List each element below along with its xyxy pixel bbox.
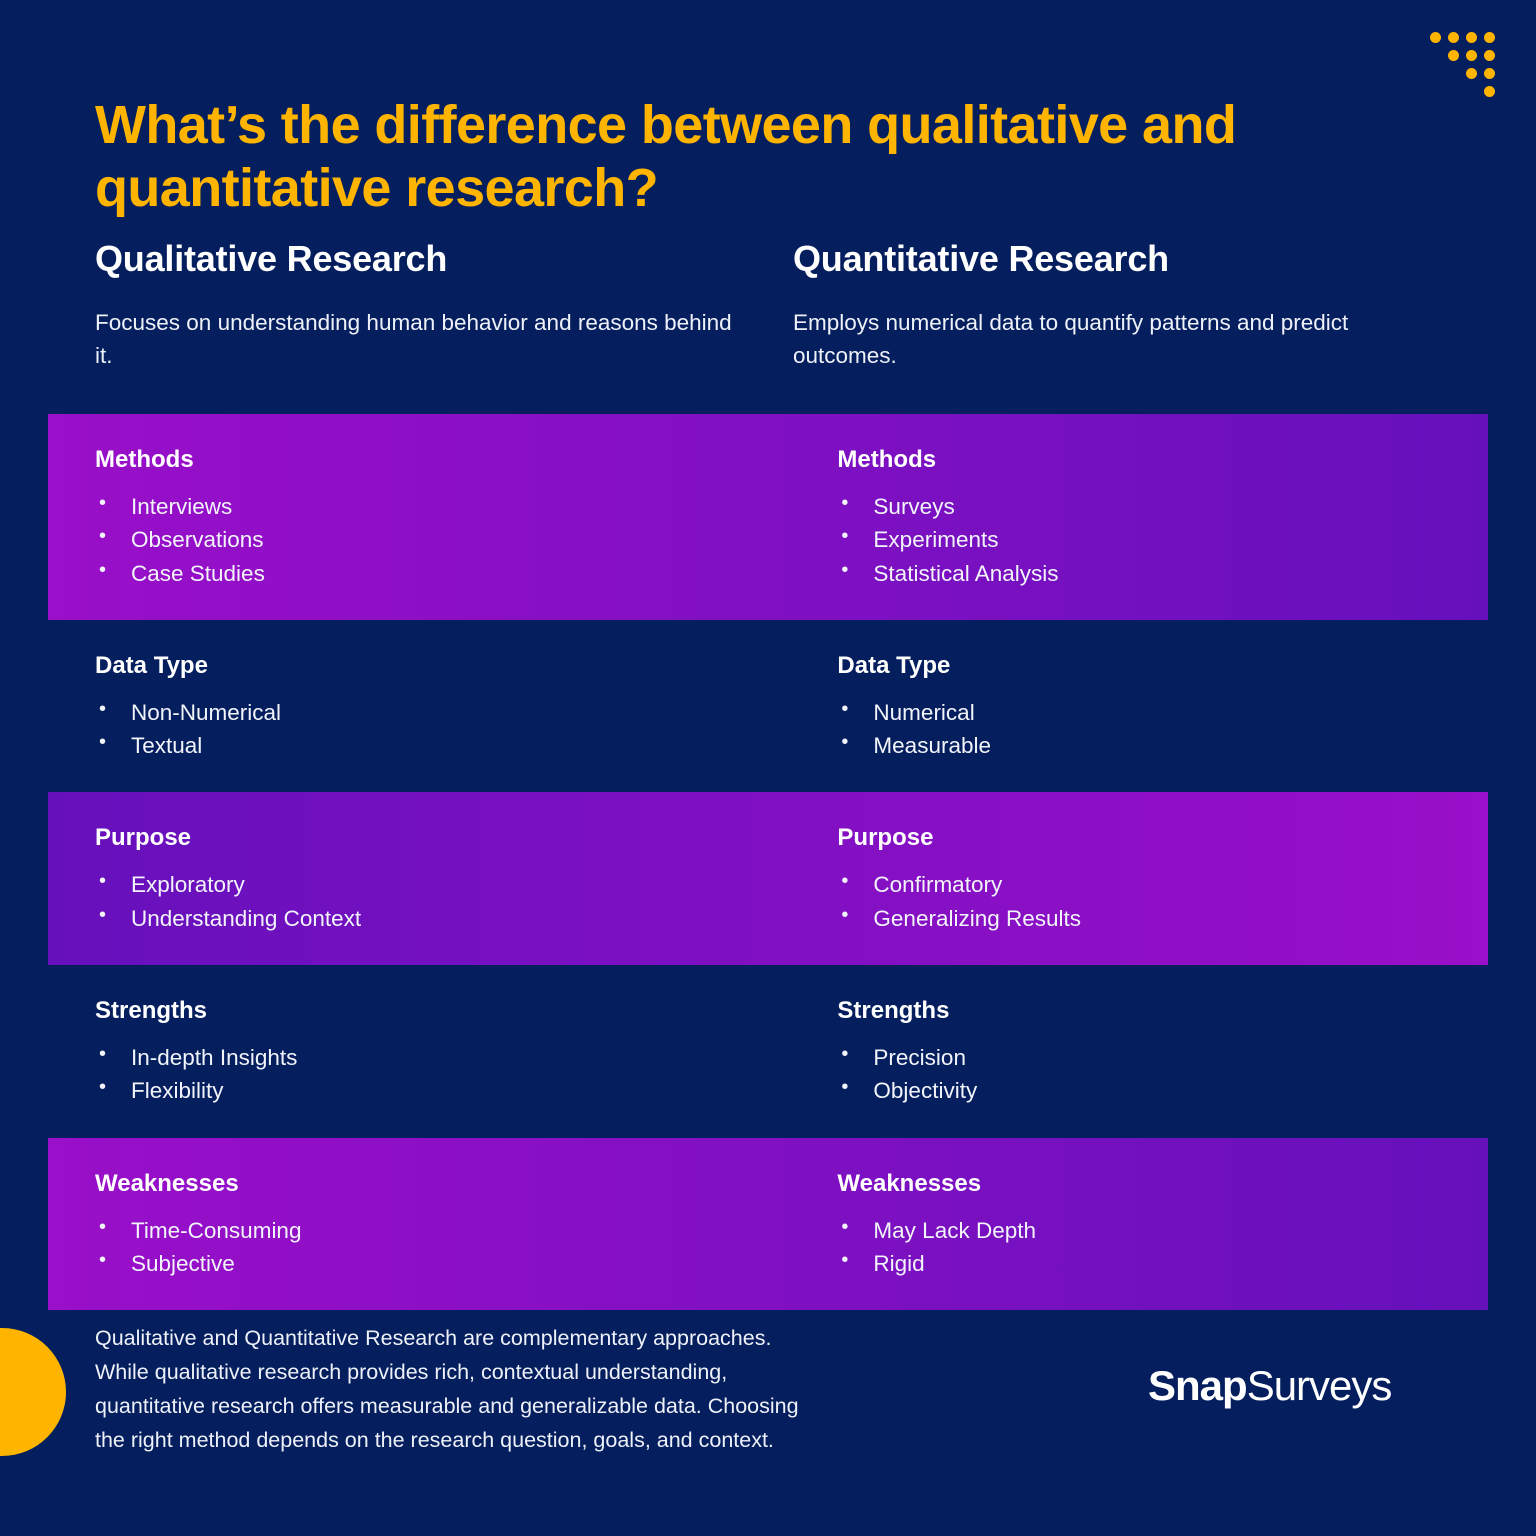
category-item-list: SurveysExperimentsStatistical Analysis (837, 490, 1488, 590)
comparison-cell-right: Data TypeNumericalMeasurable (790, 652, 1488, 763)
list-item: May Lack Depth (837, 1214, 1488, 1247)
dot (1466, 50, 1477, 61)
comparison-cell-left: WeaknessesTime-ConsumingSubjective (48, 1170, 790, 1281)
comparison-cell-left: Data TypeNon-NumericalTextual (48, 652, 790, 763)
category-label: Strengths (95, 997, 790, 1025)
category-item-list: In-depth InsightsFlexibility (95, 1041, 790, 1108)
dot (1466, 68, 1477, 79)
list-item: Statistical Analysis (837, 557, 1488, 590)
footer-line: While qualitative research provides rich… (95, 1356, 975, 1390)
list-item: Generalizing Results (837, 902, 1488, 935)
dot (1448, 32, 1459, 43)
category-item-list: Time-ConsumingSubjective (95, 1214, 790, 1281)
category-item-list: NumericalMeasurable (837, 696, 1488, 763)
comparison-row: PurposeExploratoryUnderstanding ContextP… (48, 792, 1488, 965)
category-label: Weaknesses (837, 1170, 1488, 1198)
comparison-row: StrengthsIn-depth InsightsFlexibilityStr… (48, 965, 1488, 1138)
list-item: Textual (95, 729, 790, 762)
triangular-dot-grid-icon (1430, 32, 1510, 116)
row-content: StrengthsIn-depth InsightsFlexibilityStr… (48, 965, 1488, 1138)
list-item: Measurable (837, 729, 1488, 762)
list-item: Surveys (837, 490, 1488, 523)
list-item: Rigid (837, 1247, 1488, 1280)
page-title: What’s the difference between qualitativ… (95, 94, 1275, 220)
category-label: Methods (95, 446, 790, 474)
comparison-row: Data TypeNon-NumericalTextualData TypeNu… (48, 620, 1488, 793)
comparison-cell-right: PurposeConfirmatoryGeneralizing Results (790, 824, 1488, 935)
dot (1466, 32, 1477, 43)
list-item: Understanding Context (95, 902, 790, 935)
comparison-cell-left: MethodsInterviewsObservationsCase Studie… (48, 446, 790, 590)
column-heading: Qualitative Research (95, 238, 755, 280)
brand-name-second: Surveys (1247, 1362, 1392, 1409)
list-item: Exploratory (95, 868, 790, 901)
footer-line: the right method depends on the research… (95, 1424, 975, 1458)
category-label: Data Type (837, 652, 1488, 680)
dot (1484, 50, 1495, 61)
footer-line: quantitative research offers measurable … (95, 1390, 975, 1424)
category-label: Purpose (837, 824, 1488, 852)
comparison-rows: MethodsInterviewsObservationsCase Studie… (0, 414, 1536, 1310)
list-item: Experiments (837, 523, 1488, 556)
list-item: In-depth Insights (95, 1041, 790, 1074)
category-item-list: InterviewsObservationsCase Studies (95, 490, 790, 590)
dot (1484, 68, 1495, 79)
list-item: Numerical (837, 696, 1488, 729)
list-item: Flexibility (95, 1074, 790, 1107)
list-item: Case Studies (95, 557, 790, 590)
list-item: Confirmatory (837, 868, 1488, 901)
footer-summary-text: Qualitative and Quantitative Research ar… (95, 1322, 975, 1458)
row-content: Data TypeNon-NumericalTextualData TypeNu… (48, 620, 1488, 793)
category-label: Data Type (95, 652, 790, 680)
comparison-row: WeaknessesTime-ConsumingSubjectiveWeakne… (48, 1138, 1488, 1311)
category-item-list: Non-NumericalTextual (95, 696, 790, 763)
category-label: Weaknesses (95, 1170, 790, 1198)
category-label: Purpose (95, 824, 790, 852)
category-item-list: ExploratoryUnderstanding Context (95, 868, 790, 935)
comparison-row: MethodsInterviewsObservationsCase Studie… (48, 414, 1488, 620)
snap-surveys-logo: SnapSurveys (1148, 1362, 1391, 1410)
column-heading: Quantitative Research (793, 238, 1453, 280)
dot (1484, 32, 1495, 43)
list-item: Interviews (95, 490, 790, 523)
dot (1430, 32, 1441, 43)
comparison-cell-right: MethodsSurveysExperimentsStatistical Ana… (790, 446, 1488, 590)
comparison-cell-left: PurposeExploratoryUnderstanding Context (48, 824, 790, 935)
column-header-qualitative: Qualitative Research Focuses on understa… (95, 238, 755, 373)
comparison-cell-right: WeaknessesMay Lack DepthRigid (790, 1170, 1488, 1281)
row-content: WeaknessesTime-ConsumingSubjectiveWeakne… (48, 1138, 1488, 1311)
column-description: Employs numerical data to quantify patte… (793, 306, 1453, 373)
category-label: Strengths (837, 997, 1488, 1025)
brand-name-first: Snap (1148, 1362, 1247, 1409)
column-description: Focuses on understanding human behavior … (95, 306, 755, 373)
yellow-circle-decoration (0, 1328, 66, 1456)
comparison-cell-right: StrengthsPrecisionObjectivity (790, 997, 1488, 1108)
column-header-quantitative: Quantitative Research Employs numerical … (793, 238, 1453, 373)
comparison-cell-left: StrengthsIn-depth InsightsFlexibility (48, 997, 790, 1108)
category-item-list: PrecisionObjectivity (837, 1041, 1488, 1108)
list-item: Subjective (95, 1247, 790, 1280)
list-item: Non-Numerical (95, 696, 790, 729)
dot (1484, 86, 1495, 97)
list-item: Precision (837, 1041, 1488, 1074)
infographic-page: What’s the difference between qualitativ… (0, 0, 1536, 1536)
row-content: PurposeExploratoryUnderstanding ContextP… (48, 792, 1488, 965)
category-label: Methods (837, 446, 1488, 474)
list-item: Observations (95, 523, 790, 556)
row-content: MethodsInterviewsObservationsCase Studie… (48, 414, 1488, 620)
category-item-list: ConfirmatoryGeneralizing Results (837, 868, 1488, 935)
list-item: Time-Consuming (95, 1214, 790, 1247)
list-item: Objectivity (837, 1074, 1488, 1107)
category-item-list: May Lack DepthRigid (837, 1214, 1488, 1281)
footer-line: Qualitative and Quantitative Research ar… (95, 1322, 975, 1356)
dot (1448, 50, 1459, 61)
